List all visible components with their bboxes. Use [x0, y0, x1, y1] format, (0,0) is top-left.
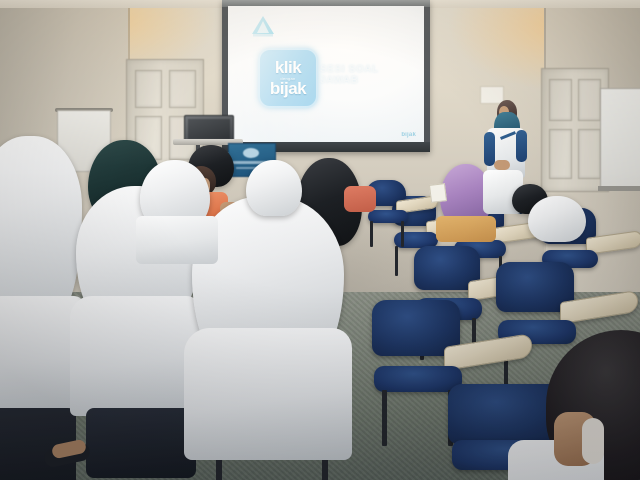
- whiteboard-pen-tray: [598, 186, 640, 191]
- presenter-sleeve-right: [516, 130, 527, 162]
- slide-title-text: SESI SOAL JAWAB: [320, 64, 420, 86]
- slide-footer-logo: bijak: [401, 132, 416, 138]
- classroom-photo-scene: klik dengan bijak SESI SOAL JAWAB bijak: [0, 0, 640, 480]
- laptop-screen: [188, 119, 230, 139]
- logo-word-top: klik: [275, 60, 301, 76]
- door-right[interactable]: [541, 68, 609, 192]
- handout-paper: [429, 183, 447, 203]
- student-center-front-robe: [184, 328, 352, 460]
- student-purple-lap: [436, 216, 496, 242]
- presenter-sleeve-left: [484, 132, 495, 166]
- banner-emblem: [243, 148, 259, 158]
- foreground-person-object: [582, 418, 604, 464]
- student-left-front-skirt: [86, 408, 196, 478]
- logo-word-bottom: bijak: [270, 81, 306, 97]
- projector-screen-surface: klik dengan bijak SESI SOAL JAWAB bijak: [228, 6, 424, 144]
- klik-bijak-logo: klik dengan bijak: [258, 48, 318, 108]
- wall-whiteboard: [600, 88, 640, 190]
- presenter-hands: [494, 160, 510, 170]
- student-left-front-robe: [70, 296, 202, 416]
- logo-tagline: dengan: [280, 76, 295, 81]
- triangle-logo-icon: [250, 14, 276, 38]
